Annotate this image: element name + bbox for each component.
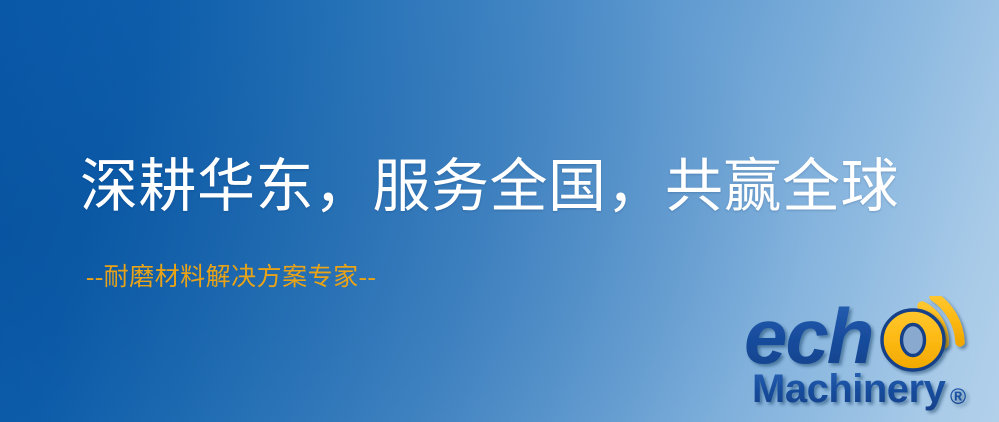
promo-banner: 深耕华东，服务全国，共赢全球 --耐磨材料解决方案专家-- [0,0,999,422]
svg-text:®: ® [950,384,966,409]
banner-headline: 深耕华东，服务全国，共赢全球 [80,157,899,218]
banner-subtitle: --耐磨材料解决方案专家-- [86,264,376,293]
logo-machinery-wordmark-icon: Machinery ® [752,364,996,416]
logo-letter-o-accent [882,310,944,370]
svg-text:Machinery: Machinery [752,367,947,411]
echo-machinery-logo: ech Machinery ® echo Machinery ® [744,296,996,420]
